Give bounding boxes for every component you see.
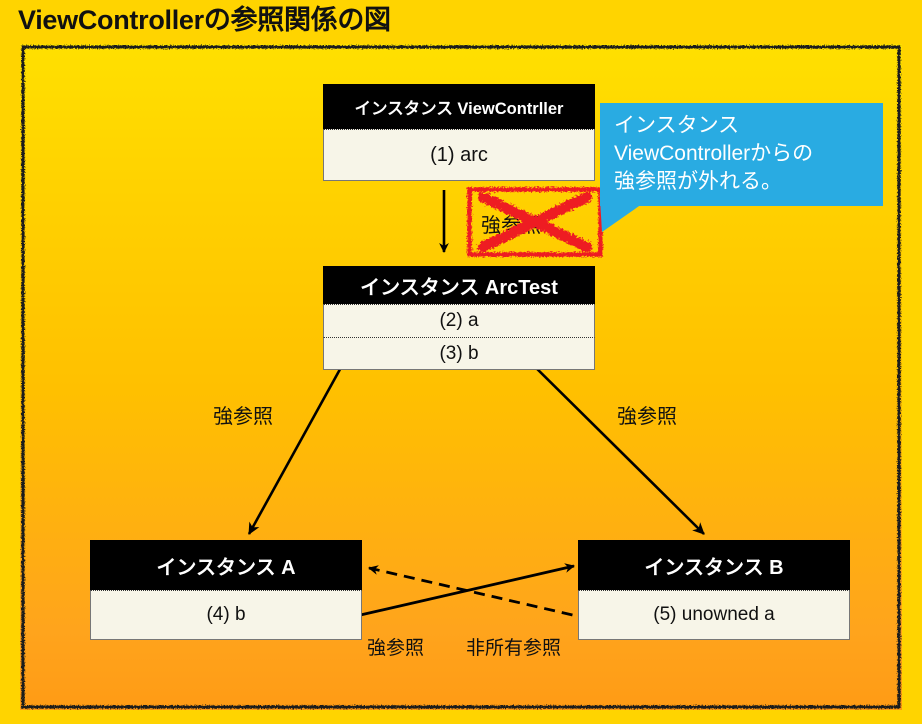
callout-text: インスタンス ViewControllerからの 強参照が外れる。 (614, 114, 813, 193)
right-strong-reference-label: 強参照 (617, 400, 677, 429)
instance-property-row: (2) a (323, 304, 595, 337)
instance-box-viewcontroller: インスタンス ViewContrller (1) arc (323, 84, 595, 181)
instance-box-header: インスタンス ViewContrller (323, 84, 595, 129)
diagram-canvas: ViewControllerの参照関係の図 (0, 0, 922, 724)
left-strong-reference-label: 強参照 (213, 400, 273, 429)
instance-box-header: インスタンス B (578, 540, 850, 590)
instance-box-header: インスタンス ArcTest (323, 266, 595, 304)
instance-property-row: (5) unowned a (578, 590, 850, 640)
bottom-unowned-reference-label: 非所有参照 (466, 633, 561, 660)
instance-box-header: インスタンス A (90, 540, 362, 590)
arrow-diagonal-icon (350, 566, 574, 622)
instance-property-row: (4) b (90, 590, 362, 640)
bottom-strong-reference-label: 強参照 (367, 633, 424, 660)
callout-bubble: インスタンス ViewControllerからの 強参照が外れる。 (600, 103, 883, 206)
crossed-out-reference-label: 強参照 (481, 209, 541, 238)
instance-box-b: インスタンス B (5) unowned a (578, 540, 850, 640)
arrow-diagonal-icon (516, 348, 704, 534)
instance-box-arctest: インスタンス ArcTest (2) a (3) b (323, 266, 595, 370)
instance-property-row: (1) arc (323, 129, 595, 181)
instance-box-a: インスタンス A (4) b (90, 540, 362, 640)
instance-property-row: (3) b (323, 337, 595, 370)
dashed-arrow-icon (369, 568, 596, 625)
